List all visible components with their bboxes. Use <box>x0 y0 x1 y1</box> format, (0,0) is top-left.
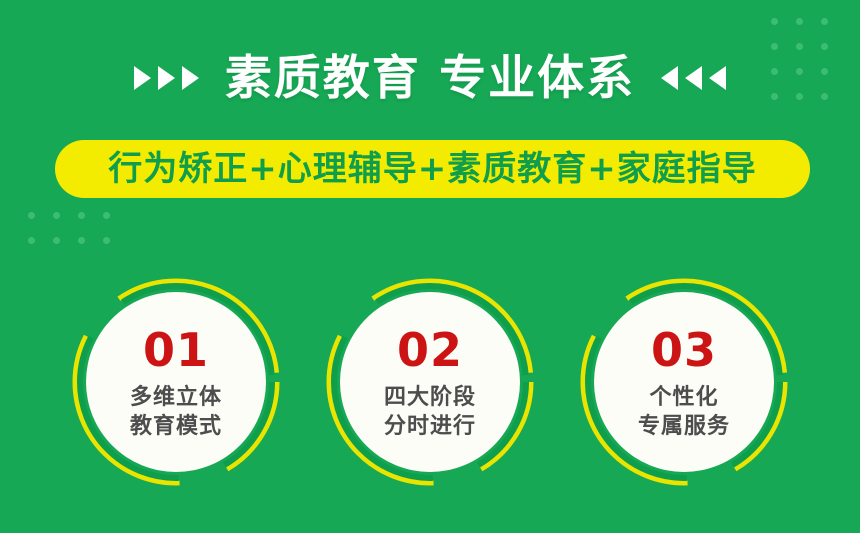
dot-icon <box>821 18 828 25</box>
dot-grid-icon <box>28 212 110 244</box>
feature-line-1: 个性化 <box>649 383 718 412</box>
feature-circle-01: 01 多维立体 教育模式 <box>70 278 282 510</box>
dot-icon <box>771 18 778 25</box>
subtitle-pill: 行为矫正+心理辅导+素质教育+家庭指导 <box>55 140 810 198</box>
feature-line-2: 教育模式 <box>130 412 222 441</box>
dot-icon <box>28 237 35 244</box>
feature-number: 03 <box>651 327 717 373</box>
feature-circle-row: 01 多维立体 教育模式 02 四大阶段 分时进行 03 个 <box>0 278 860 523</box>
triangle-left-icon <box>685 66 702 90</box>
feature-number: 01 <box>143 327 209 373</box>
dot-icon <box>78 212 85 219</box>
page-title: 素质教育 专业体系 <box>225 55 635 102</box>
triangle-right-icon-group <box>134 66 199 90</box>
feature-disc: 02 四大阶段 分时进行 <box>340 292 520 472</box>
dot-icon <box>78 237 85 244</box>
feature-number: 02 <box>397 327 463 373</box>
triangle-right-icon <box>134 66 151 90</box>
dot-icon <box>103 212 110 219</box>
dot-icon <box>28 212 35 219</box>
triangle-right-icon <box>182 66 199 90</box>
dot-icon <box>103 237 110 244</box>
triangle-right-icon <box>158 66 175 90</box>
triangle-left-icon-group <box>661 66 726 90</box>
triangle-left-icon <box>709 66 726 90</box>
headline-row: 素质教育 专业体系 <box>0 47 860 109</box>
feature-disc: 03 个性化 专属服务 <box>594 292 774 472</box>
triangle-left-icon <box>661 66 678 90</box>
feature-circle-03: 03 个性化 专属服务 <box>578 278 790 510</box>
feature-line-2: 分时进行 <box>384 412 476 441</box>
feature-line-1: 四大阶段 <box>384 383 476 412</box>
feature-line-1: 多维立体 <box>130 383 222 412</box>
feature-circle-02: 02 四大阶段 分时进行 <box>324 278 536 510</box>
dot-icon <box>53 237 60 244</box>
feature-disc: 01 多维立体 教育模式 <box>86 292 266 472</box>
feature-line-2: 专属服务 <box>638 412 730 441</box>
subtitle-text: 行为矫正+心理辅导+素质教育+家庭指导 <box>108 152 756 186</box>
dot-icon <box>796 18 803 25</box>
dot-icon <box>53 212 60 219</box>
promo-banner: 素质教育 专业体系 行为矫正+心理辅导+素质教育+家庭指导 01 多维立体 教育… <box>0 0 860 533</box>
